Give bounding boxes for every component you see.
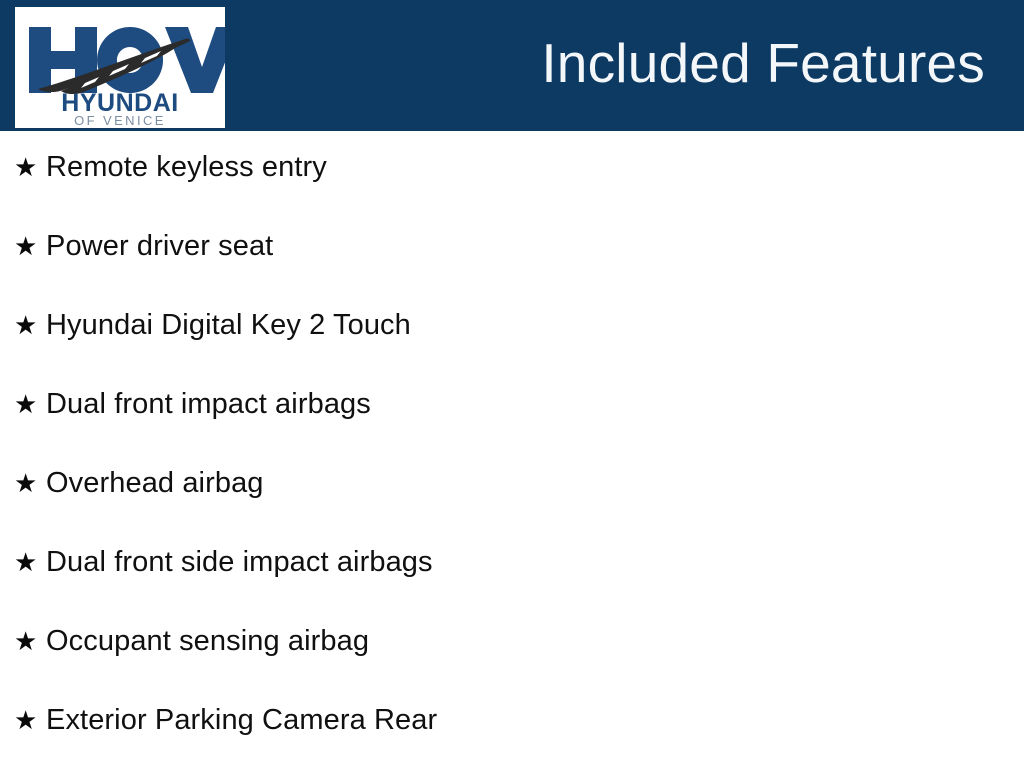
feature-label: Dual front impact airbags xyxy=(46,387,371,421)
list-item: ★ Remote keyless entry xyxy=(0,150,1024,229)
list-item: ★ Power driver seat xyxy=(0,229,1024,308)
star-icon: ★ xyxy=(14,627,46,657)
page-title: Included Features xyxy=(541,28,985,98)
star-icon: ★ xyxy=(14,153,46,183)
feature-label: Overhead airbag xyxy=(46,466,264,500)
list-item: ★ Dual front impact airbags xyxy=(0,387,1024,466)
header-band: HYUNDAI OF VENICE Included Features xyxy=(0,0,1024,131)
star-icon: ★ xyxy=(14,390,46,420)
list-item: ★ Hyundai Digital Key 2 Touch xyxy=(0,308,1024,387)
list-item: ★ Overhead airbag xyxy=(0,466,1024,545)
list-item: ★ Occupant sensing airbag xyxy=(0,624,1024,703)
feature-label: Remote keyless entry xyxy=(46,150,327,184)
feature-label: Exterior Parking Camera Rear xyxy=(46,703,437,737)
star-icon: ★ xyxy=(14,232,46,262)
feature-label: Power driver seat xyxy=(46,229,273,263)
dealership-logo: HYUNDAI OF VENICE xyxy=(15,7,225,128)
star-icon: ★ xyxy=(14,469,46,499)
list-item: ★ Exterior Parking Camera Rear xyxy=(0,703,1024,768)
star-icon: ★ xyxy=(14,311,46,341)
feature-label: Hyundai Digital Key 2 Touch xyxy=(46,308,411,342)
list-item: ★ Dual front side impact airbags xyxy=(0,545,1024,624)
star-icon: ★ xyxy=(14,548,46,578)
svg-text:OF VENICE: OF VENICE xyxy=(74,113,166,128)
hov-logo-icon: HYUNDAI OF VENICE xyxy=(15,7,225,128)
star-icon: ★ xyxy=(14,706,46,736)
slide-included-features: HYUNDAI OF VENICE Included Features ★ Re… xyxy=(0,0,1024,768)
feature-label: Dual front side impact airbags xyxy=(46,545,433,579)
included-features-list: ★ Remote keyless entry ★ Power driver se… xyxy=(0,131,1024,768)
feature-label: Occupant sensing airbag xyxy=(46,624,369,658)
